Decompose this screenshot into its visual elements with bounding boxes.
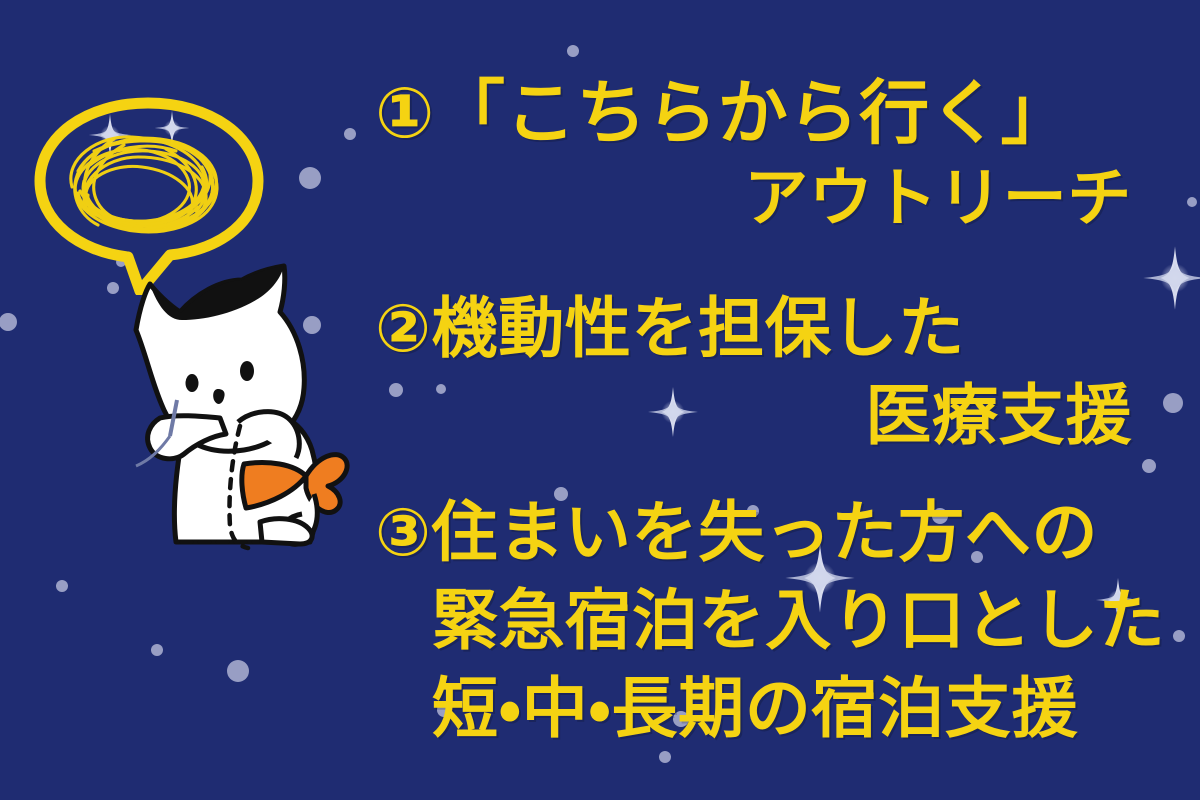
star-dot (1173, 630, 1185, 642)
tangled-scribble (71, 137, 217, 232)
star-dot (151, 644, 163, 656)
item-3-line-1: ③住まいを失った方への (375, 500, 1098, 566)
star-dot (1187, 197, 1197, 207)
poster-canvas: ①「こちらから行く」 アウトリーチ ②機動性を担保した 医療支援 ③住まいを失っ… (0, 0, 1200, 800)
cat-eye-right (240, 361, 254, 381)
star-dot (0, 313, 17, 331)
item-3-line-3: 短・中・長期の宿泊支援 (432, 676, 1078, 742)
item-3-line-2: 緊急宿泊を入り口とした (432, 588, 1165, 654)
cat-back-paw (260, 519, 312, 544)
cat-eye-left (186, 374, 199, 392)
message-list: ①「こちらから行く」 アウトリーチ ②機動性を担保した 医療支援 ③住まいを失っ… (370, 0, 1160, 800)
item-2-line-1: ②機動性を担保した (375, 296, 965, 362)
item-2-line-2: 医療支援 (865, 383, 1132, 449)
star-dot (344, 128, 356, 140)
item-1-line-1: ①「こちらから行く」 (375, 78, 1071, 148)
star-dot (227, 660, 249, 682)
star-dot (56, 580, 68, 592)
star-dot (1163, 393, 1183, 413)
item-1-line-2: アウトリーチ (744, 167, 1132, 231)
white-cat-with-needle-and-thread (120, 258, 370, 558)
star-dot (299, 167, 321, 189)
